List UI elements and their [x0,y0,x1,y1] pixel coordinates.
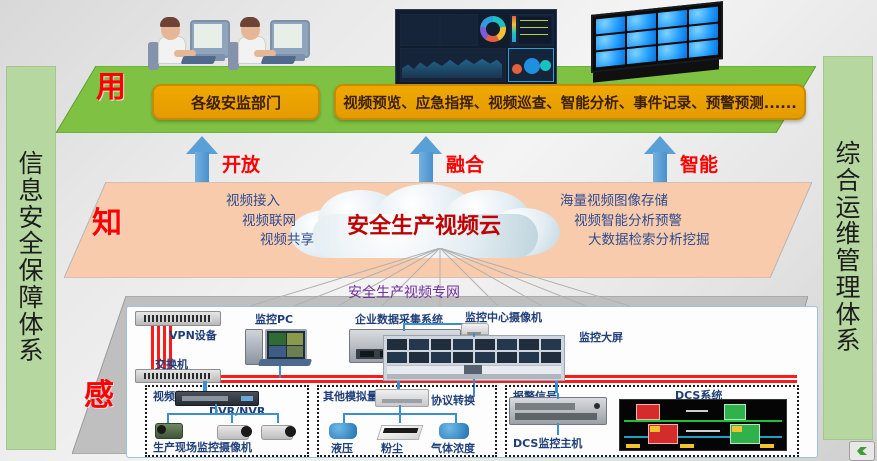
layer-letter-know: 知 [92,198,122,242]
wire-blue [455,413,457,423]
layer-letter-sense: 感 [84,370,114,414]
operator-figure [148,6,226,78]
bi-dashboard-image [395,9,557,85]
banner-char: 保 [18,258,43,285]
cloud-right-capabilities: 海量视频图像存储 视频智能分析预警 大数据检索分析挖掘 [560,192,760,251]
dust-sensor-icon [377,425,424,440]
private-network-label: 安全生产视频专网 [348,282,460,302]
camera-lens-icon [241,426,252,437]
banner-char: 理 [835,275,860,302]
control-room-photo [383,335,565,381]
right-vertical-banner: 综 合 运 维 管 理 体 系 [823,56,873,440]
sense-layer-panel: VPN设备 交换机 监控PC 企业数据采集系统 [126,306,818,458]
device-label-monitor-pc: 监控PC [255,311,293,327]
device-label-big-screen: 监控大屏 [579,329,623,345]
hydraulic-sensor-icon [329,423,357,439]
banner-char: 综 [835,141,860,168]
operator-figure [228,6,306,78]
wire-blue [167,413,233,415]
banner-char: 障 [18,285,43,312]
layer-letter-use: 用 [96,62,126,106]
device-label-vpn: VPN设备 [169,327,217,343]
banner-char: 体 [18,312,43,339]
pc-monitor-icon [265,329,307,361]
group-title-analog-signals: 其他模拟量 [323,388,378,404]
video-wall-image [591,8,729,80]
pill-label: 视频预览、应急指挥、视频巡查、智能分析、事件记录、预警预测...... [343,92,797,113]
banner-char: 全 [18,231,43,258]
wire-blue [167,413,169,423]
left-vertical-banner: 信 息 安 全 保 障 体 系 [6,66,56,450]
wire-blue [203,381,207,391]
banner-char: 系 [18,338,43,365]
pill-application-functions[interactable]: 视频预览、应急指挥、视频巡查、智能分析、事件记录、预警预测...... [334,84,806,120]
vpn-device-icon [135,311,221,326]
keyboard-icon [258,359,312,366]
banner-char: 运 [835,195,860,222]
gas-sensor-icon [439,423,469,439]
sensor-label-gas: 气体浓度 [431,440,475,456]
cloud-left-item: 视频联网 [120,212,296,232]
device-label-switch: 交换机 [155,356,188,372]
sensor-label-dust: 粉尘 [381,440,403,456]
camera-lens-icon [285,426,296,437]
wire-blue [555,381,558,393]
arrow-label-open: 开放 [222,150,260,177]
group-footer-video-surveillance: 生产现场监控摄像机 [153,439,252,455]
banner-char: 体 [835,302,860,329]
arrow-label-intelligence: 智能 [680,150,718,177]
arrow-open-icon [186,136,218,182]
device-label-dcs-host: DCS监控主机 [513,435,582,451]
banner-char: 息 [18,178,43,205]
camera-lens-icon [157,425,166,434]
cloud-left-item: 视频接入 [120,192,280,212]
wire-blue [231,413,279,415]
wire-blue [557,423,559,435]
banner-char: 合 [835,168,860,195]
wire-blue [215,404,217,413]
dcs-host-icon [509,397,607,425]
banner-char: 维 [835,221,860,248]
operators-at-workstations-image [148,6,308,78]
dcs-scada-screen-icon [619,399,787,451]
dvr-nvr-icon [175,391,259,406]
cloud-right-item: 视频智能分析预警 [574,212,760,232]
arrow-intelligence-icon [644,136,676,182]
cloud-center-label: 安全生产视频云 [284,208,564,240]
wire-blue [399,413,401,423]
sensor-label-hydraulic: 液压 [331,440,353,456]
cloud-right-item: 海量视频图像存储 [560,192,760,212]
taskbar-app-icon[interactable] [849,441,875,461]
wire-blue [399,405,401,413]
cloud-left-capabilities: 视频接入 视频联网 视频共享 [120,192,280,251]
arrow-convergence-icon [410,136,442,182]
pill-safety-supervision-departments[interactable]: 各级安监部门 [152,84,320,120]
protocol-converter-icon [375,389,429,407]
banner-char: 系 [835,328,860,355]
wire-blue [343,413,345,423]
arrow-label-convergence: 融合 [446,150,484,177]
architecture-diagram: 信 息 安 全 保 障 体 系 综 合 运 维 管 理 体 系 [0,0,877,461]
wire-blue [279,366,281,378]
pill-label: 各级安监部门 [191,92,281,113]
banner-char: 信 [18,151,43,178]
wire-blue [403,323,467,325]
wire-blue [397,381,400,389]
wire-blue [557,393,559,399]
device-label-dvr-nvr: DVR/NVR [209,405,265,418]
wire-blue [473,333,475,337]
device-label-protocol-converter: 协议转换 [431,392,475,408]
banner-char: 安 [18,205,43,232]
banner-char: 管 [835,248,860,275]
